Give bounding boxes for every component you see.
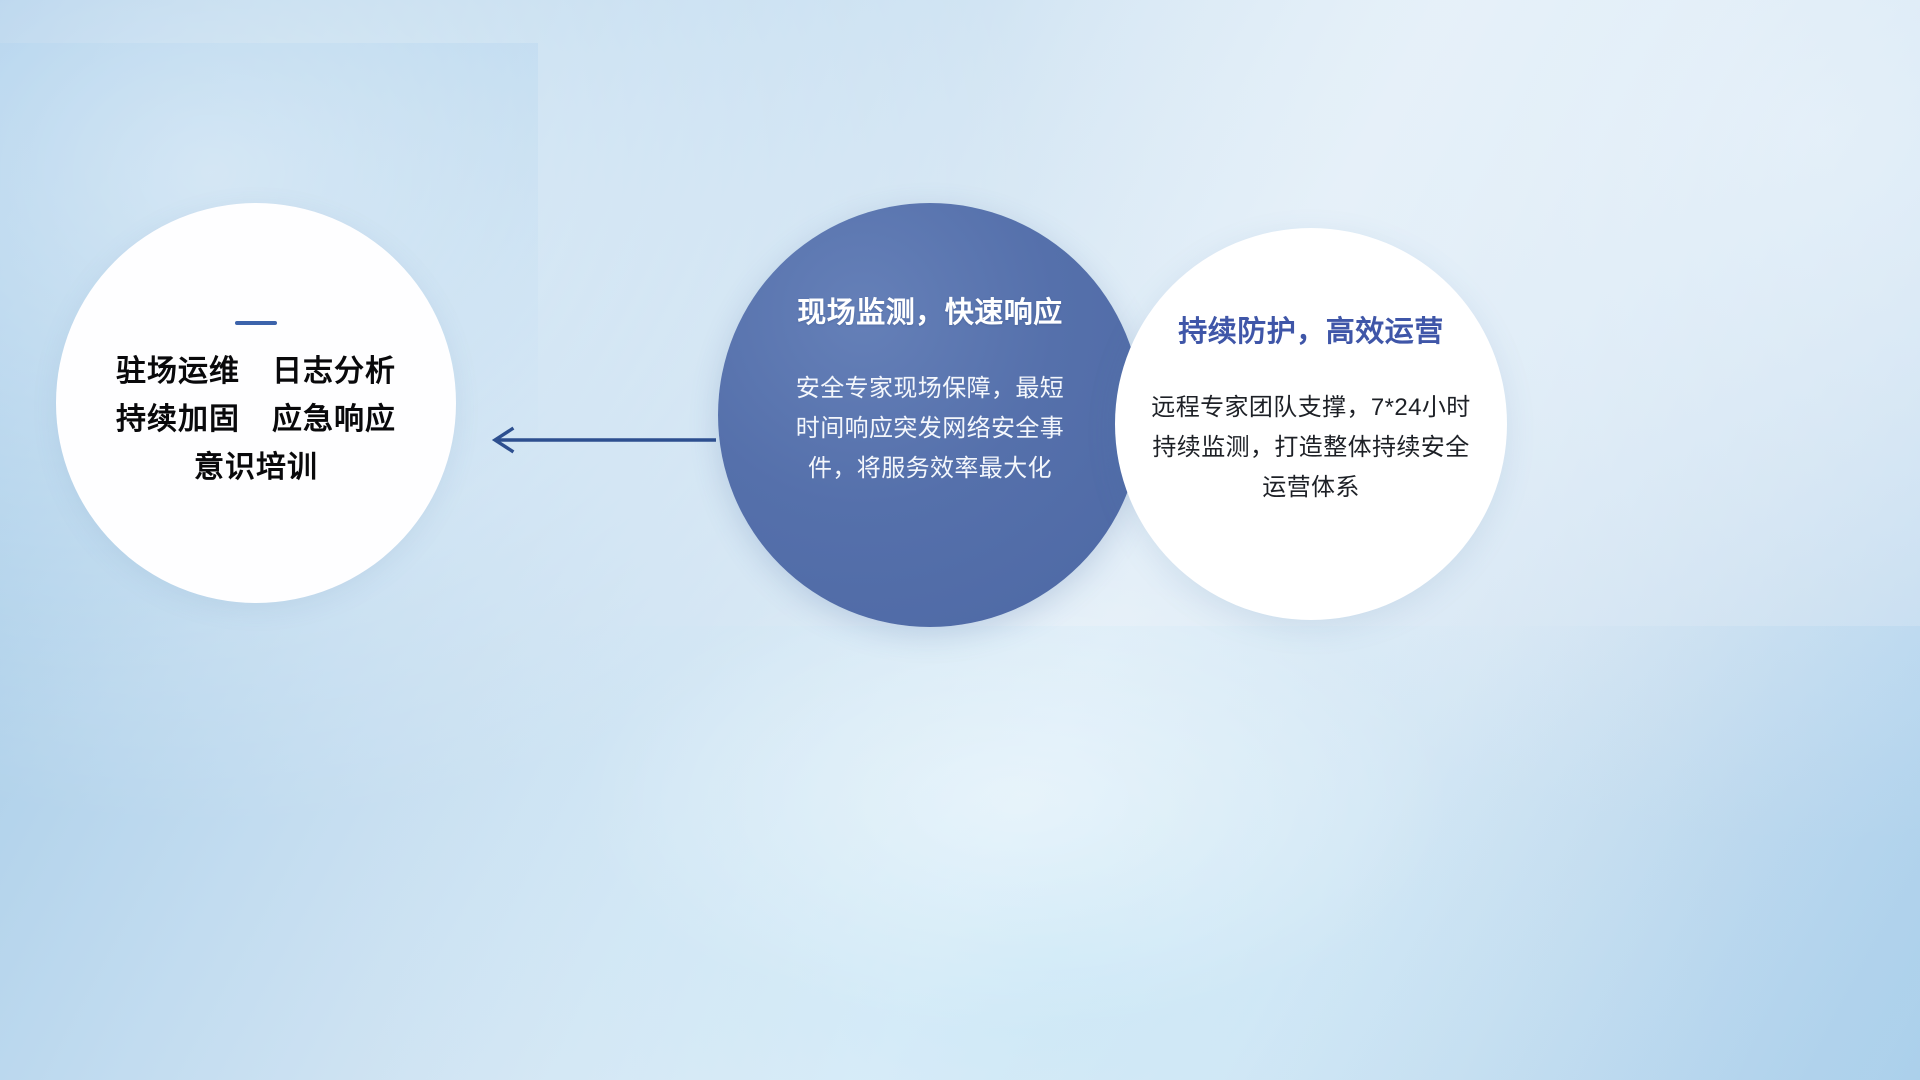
divider-dash-icon	[235, 321, 277, 325]
capability-tag: 意识培训	[194, 453, 318, 483]
continuous-operation-circle: 持续防护，高效运营 远程专家团队支撑，7*24小时持续监测，打造整体持续安全运营…	[1115, 228, 1507, 620]
flow-arrow-left-icon	[480, 414, 720, 466]
capability-tag: 驻场运维	[116, 357, 240, 387]
continuous-operation-title: 持续防护，高效运营	[1178, 308, 1444, 350]
onsite-monitoring-body: 安全专家现场保障，最短时间响应突发网络安全事件，将服务效率最大化	[785, 369, 1075, 489]
capability-tag: 日志分析	[272, 357, 396, 387]
capability-row: 持续加固 应急响应	[116, 405, 396, 435]
capability-row: 驻场运维 日志分析	[116, 357, 396, 387]
onsite-monitoring-title: 现场监测，快速响应	[797, 289, 1063, 331]
capability-tag: 持续加固	[116, 405, 240, 435]
capability-row: 意识培训	[194, 453, 318, 483]
onsite-monitoring-circle: 现场监测，快速响应 安全专家现场保障，最短时间响应突发网络安全事件，将服务效率最…	[718, 203, 1142, 627]
background-sheen-center	[576, 562, 1459, 1037]
capability-tag: 应急响应	[272, 405, 396, 435]
capability-circle: 驻场运维 日志分析 持续加固 应急响应 意识培训	[56, 203, 456, 603]
continuous-operation-body: 远程专家团队支撑，7*24小时持续监测，打造整体持续安全运营体系	[1143, 388, 1479, 508]
capability-tag-list: 驻场运维 日志分析 持续加固 应急响应 意识培训	[56, 357, 456, 483]
